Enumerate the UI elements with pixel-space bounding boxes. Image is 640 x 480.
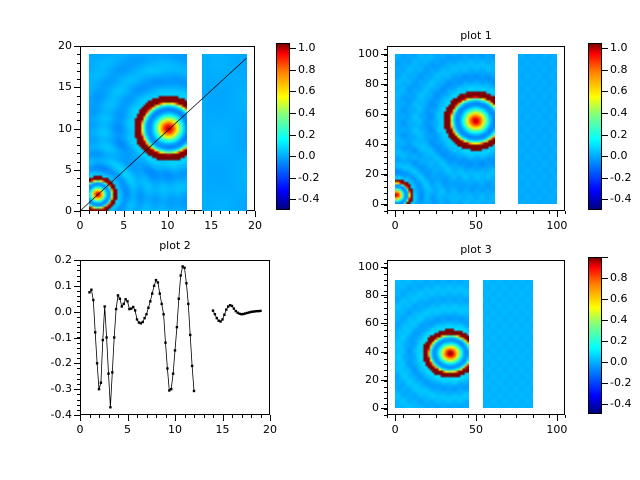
xtick-minor	[549, 415, 550, 418]
ytick-minor	[384, 280, 387, 281]
colorbar-tick	[602, 341, 608, 342]
colorbar-ticklabel: -0.2	[610, 376, 631, 389]
xtick-major	[476, 415, 477, 421]
colorbar-tick	[602, 362, 608, 363]
colorbar-ticklabel: 0.6	[610, 292, 628, 305]
ytick-minor	[384, 268, 387, 269]
panel-bottom-right: 050100020406080100plot 3-0.4-0.20.00.20.…	[0, 0, 640, 480]
ytick-minor	[384, 274, 387, 275]
xtick-minor	[436, 415, 437, 418]
colorbar-tick	[602, 278, 608, 279]
ytick-minor	[384, 376, 387, 377]
xtick-minor	[419, 415, 420, 418]
xtick-minor	[387, 415, 388, 418]
yticklabel: 20	[335, 373, 379, 386]
ytick-minor	[384, 409, 387, 410]
xtick-major	[395, 415, 396, 421]
xticklabel: 100	[537, 423, 577, 436]
ytick-major	[381, 323, 387, 324]
colorbar-tick	[602, 320, 608, 321]
xtick-minor	[516, 415, 517, 418]
ytick-minor	[384, 308, 387, 309]
panel-title-bottom-right: plot 3	[387, 243, 565, 256]
yticklabel: 0	[335, 401, 379, 414]
heatmap-image-bottom-right-1	[483, 280, 533, 408]
xtick-minor	[468, 415, 469, 418]
ytick-minor	[384, 263, 387, 264]
colorbar-bottom-right	[588, 257, 602, 414]
heatmap-canvas	[395, 280, 469, 408]
ytick-minor	[384, 347, 387, 348]
xtick-minor	[500, 415, 501, 418]
colorbar-tick	[602, 404, 608, 405]
colorbar-tick	[602, 299, 608, 300]
yticklabel: 100	[335, 260, 379, 273]
ytick-minor	[384, 398, 387, 399]
xtick-minor	[484, 415, 485, 418]
xtick-minor	[452, 415, 453, 418]
yticklabel: 40	[335, 345, 379, 358]
colorbar-tick	[602, 383, 608, 384]
ytick-minor	[384, 285, 387, 286]
ytick-minor	[384, 415, 387, 416]
xticklabel: 0	[375, 423, 415, 436]
colorbar-tick	[602, 257, 608, 258]
yticklabel: 80	[335, 288, 379, 301]
ytick-minor	[384, 387, 387, 388]
ytick-minor	[384, 330, 387, 331]
ytick-minor	[384, 392, 387, 393]
ytick-minor	[384, 297, 387, 298]
figure-canvas: 0510152005101520-0.4-0.20.00.20.40.60.81…	[0, 0, 640, 480]
ytick-minor	[384, 381, 387, 382]
ytick-minor	[384, 364, 387, 365]
ytick-minor	[384, 325, 387, 326]
ytick-minor	[384, 370, 387, 371]
ytick-minor	[384, 302, 387, 303]
colorbar-ticklabel: 0.4	[610, 313, 628, 326]
xtick-minor	[565, 415, 566, 418]
xtick-minor	[403, 415, 404, 418]
ytick-major	[381, 295, 387, 296]
colorbar-ticklabel: 0.8	[610, 271, 628, 284]
xtick-major	[557, 415, 558, 421]
ytick-minor	[384, 359, 387, 360]
ytick-minor	[384, 291, 387, 292]
colorbar-ticklabel: 0.0	[610, 355, 628, 368]
xtick-minor	[533, 415, 534, 418]
ytick-minor	[384, 314, 387, 315]
yticklabel: 60	[335, 316, 379, 329]
ytick-minor	[384, 336, 387, 337]
colorbar-ticklabel: -0.4	[610, 397, 631, 410]
colorbar-ticklabel: 0.2	[610, 334, 628, 347]
ytick-minor	[384, 404, 387, 405]
heatmap-canvas	[483, 280, 533, 408]
ytick-minor	[384, 342, 387, 343]
xticklabel: 50	[456, 423, 496, 436]
heatmap-image-bottom-right-0	[395, 280, 469, 408]
ytick-minor	[384, 319, 387, 320]
ytick-minor	[384, 353, 387, 354]
